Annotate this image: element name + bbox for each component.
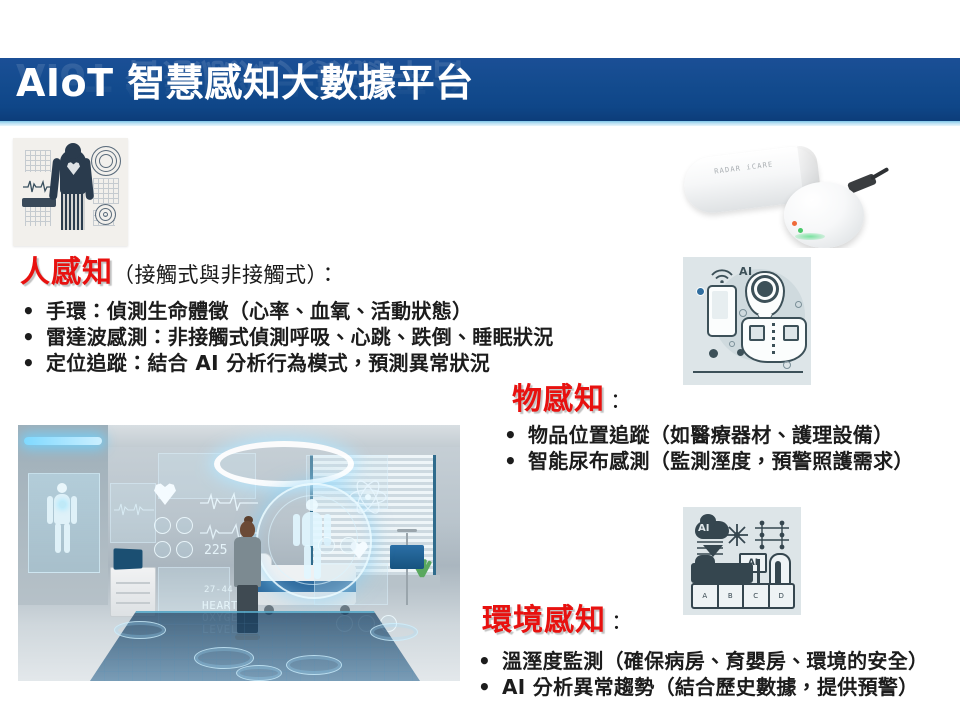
light-strip [24, 437, 102, 445]
list-item: •溫溼度監測（確保病房、育嬰房、環境的安全） [472, 648, 928, 674]
title-banner: AIoT 智慧感知大數據平台 AIoT 智慧感知大數據平台 [0, 58, 960, 126]
hospital-bed-icon [691, 563, 753, 583]
ripple-icon [236, 665, 282, 681]
bullet-marker-icon: • [22, 324, 35, 350]
hud-value-small: 27-44 [204, 585, 233, 595]
hud-icon-row [154, 517, 193, 534]
list-item: •智能尿布感測（監測溼度，預警照護需求） [498, 448, 914, 474]
iv-pole [406, 533, 408, 605]
list-item: •雷達波感測：非接觸式偵測呼吸、心跳、跌倒、睡眠狀況 [16, 324, 554, 350]
smart-diaper-icon [741, 317, 807, 363]
human-hologram-left [45, 483, 79, 555]
section-subtitle-human: （接觸式與非接觸式）： [113, 263, 339, 287]
body-legs [61, 190, 85, 230]
status-glow [795, 233, 825, 240]
panel-cell: D [770, 585, 794, 607]
sensor-devices-photo: RADAR iCARE [662, 138, 948, 248]
radar-rings-icon [95, 204, 116, 225]
body-head [65, 143, 81, 159]
bullet-list-human: •手環：偵測生命體徵（心率、血氧、活動狀態） •雷達波感測：非接觸式偵測呼吸、心… [16, 298, 554, 376]
decorative-bubble [795, 301, 802, 308]
list-item-text: 智能尿布感測（監測溼度，預警照護需求） [528, 449, 914, 473]
smartphone-icon [707, 285, 737, 337]
environment-icon-image: AI AI A B C D [683, 507, 801, 615]
bullet-list-object: •物品位置追蹤（如醫療器材、護理設備） •智能尿布感測（監測溼度，預警照護需求） [498, 422, 914, 474]
smart-room-image: 225 27-44 HEART OXYGEN LEVELS [18, 425, 460, 681]
radar-rings-icon [91, 146, 121, 176]
status-led-green-icon [798, 228, 803, 233]
data-grid-icon [93, 178, 119, 204]
list-item: •定位追蹤：結合 AI 分析行為模式，預測異常狀況 [16, 350, 554, 376]
ripple-icon [114, 621, 166, 639]
data-grid-icon [25, 150, 51, 172]
section-heading-object: 物感知： [512, 385, 627, 415]
bullet-marker-icon: • [504, 422, 517, 448]
list-item-text: 雷達波感測：非接觸式偵測呼吸、心跳、跌倒、睡眠狀況 [46, 325, 554, 349]
gear-icon [757, 281, 773, 297]
section-heading-environment: 環境感知： [482, 606, 628, 636]
hud-icon-row [318, 537, 357, 554]
list-item-text: AI 分析異常趨勢（結合歷史數據，提供預警） [502, 675, 918, 699]
phone-screen [712, 291, 728, 319]
wall-monitor [390, 545, 424, 569]
bedside-monitor [114, 548, 143, 569]
atom-icon [348, 477, 388, 517]
section-keyword-human: 人感知 [20, 255, 113, 290]
page-title: AIoT 智慧感知大數據平台 [16, 58, 474, 111]
gear-icon [709, 349, 718, 358]
holographic-ring [214, 441, 354, 487]
section-keyword-object: 物感知 [512, 382, 605, 417]
list-item-text: 溫溼度監測（確保病房、育嬰房、環境的安全） [502, 649, 928, 673]
body-scan-image [13, 138, 128, 246]
wifi-signal-icon [711, 269, 733, 283]
data-grid-icon [25, 206, 51, 226]
list-item: •AI 分析異常趨勢（結合歷史數據，提供預警） [472, 674, 928, 700]
bullet-marker-icon: • [478, 674, 491, 700]
list-item-text: 定位追蹤：結合 AI 分析行為模式，預測異常狀況 [46, 351, 490, 375]
ecg-waveform-icon [23, 178, 53, 194]
ai-cloud-label: AI [698, 523, 709, 534]
moisture-sensor-dots [772, 323, 775, 357]
list-item-text: 物品位置追蹤（如醫療器材、護理設備） [528, 423, 893, 447]
list-item-text: 手環：偵測生命體徵（心率、血氧、活動狀態） [46, 299, 472, 323]
bullet-marker-icon: • [22, 298, 35, 324]
section-heading-human: 人感知（接觸式與非接觸式）： [20, 258, 339, 288]
object-sensing-icon-image: AI [683, 257, 811, 385]
gear-icon [737, 349, 744, 356]
bullet-marker-icon: • [22, 350, 35, 376]
section-subtitle-environment: ： [606, 611, 628, 635]
bullet-list-environment: •溫溼度監測（確保病房、育嬰房、環境的安全） •AI 分析異常趨勢（結合歷史數據… [472, 648, 928, 700]
sensor-pole [757, 559, 760, 585]
decorative-bubble [783, 361, 791, 369]
sensor-burst-icon [725, 523, 749, 547]
bullet-marker-icon: • [504, 448, 517, 474]
control-panel-icon: A B C D [691, 583, 795, 609]
bullet-marker-icon: • [478, 648, 491, 674]
phone-indicator-dot [696, 287, 705, 296]
panel-cell: C [744, 585, 770, 607]
ripple-icon [286, 655, 342, 675]
list-item: •物品位置追蹤（如醫療器材、護理設備） [498, 422, 914, 448]
hud-value: 225 [204, 543, 227, 558]
ecg-waveform-icon [114, 501, 154, 517]
panel-cell: B [719, 585, 745, 607]
section-keyword-environment: 環境感知 [482, 603, 606, 638]
status-led-red-icon [792, 221, 797, 226]
section-subtitle-object: ： [605, 390, 627, 414]
baseline [693, 371, 803, 373]
decorative-bubble [729, 341, 735, 347]
sensor-network-icon [753, 519, 791, 551]
medical-cart [110, 567, 156, 617]
ripple-icon [370, 623, 418, 641]
list-item: •手環：偵測生命體徵（心率、血氧、活動狀態） [16, 298, 554, 324]
ecg-waveform-icon [200, 491, 258, 511]
hud-icon-row [154, 541, 193, 558]
decorative-bubble [739, 309, 747, 317]
panel-cell: A [693, 585, 719, 607]
